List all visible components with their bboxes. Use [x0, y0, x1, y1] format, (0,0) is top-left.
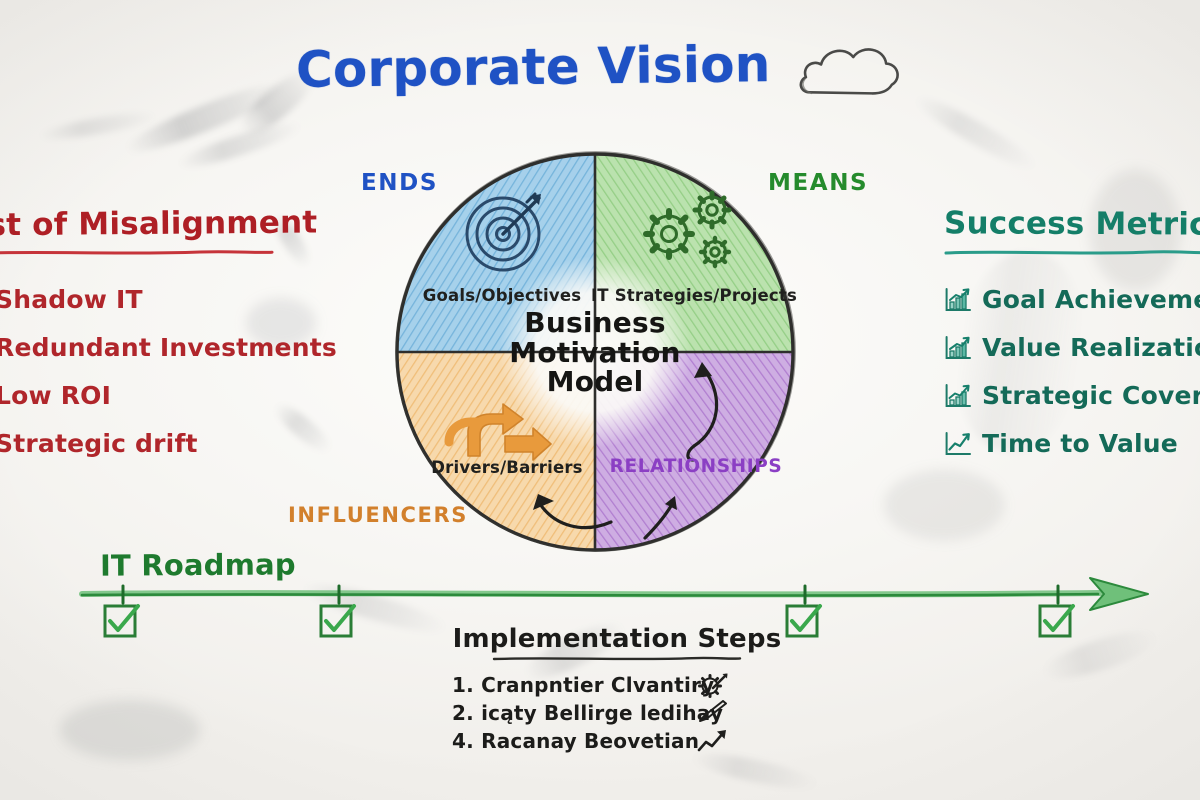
quadrant-label-goals: Goals/Objectives	[423, 286, 582, 305]
checkbox-checked-icon	[105, 606, 138, 636]
list-item-label: Time to Value	[982, 429, 1178, 458]
list-item: Strategic Coverage	[944, 371, 1200, 419]
list-item-label: Goal Achievement	[982, 285, 1200, 314]
center-line-2: Motivation	[509, 338, 680, 368]
cloud-icon	[796, 37, 905, 105]
step-label-1: 1. Cranpntier Clvantiry	[452, 673, 697, 697]
list-item: Goal Achievement	[944, 275, 1200, 323]
cost-list: Shadow IT Redundant Investments Low ROI	[0, 275, 316, 467]
list-item: 1. Cranpntier Clvantiry	[452, 671, 782, 699]
list-item: Value Realization	[944, 323, 1200, 371]
cost-of-misalignment-panel: ost of Misalignment Shadow IT Redundant …	[0, 206, 316, 467]
eraser-smudge	[910, 88, 1042, 177]
diagram-center-title: Business Motivation Model	[509, 308, 680, 397]
pencil-icon	[697, 700, 729, 726]
list-item: Low ROI	[0, 371, 316, 419]
eraser-smudge	[175, 115, 305, 174]
steps-underline	[492, 655, 742, 662]
outer-label-means: MEANS	[768, 170, 868, 196]
title-row: Corporate Vision	[0, 34, 1200, 100]
step-label-2: 2. icąty Bellirge ledihay	[452, 701, 697, 725]
quadrant-label-it-strategies: IT Strategies/Projects	[591, 286, 797, 305]
list-item-label: Low ROI	[0, 381, 111, 410]
list-item: Strategic drift	[0, 419, 316, 467]
list-item: 4. Racanay Beovetian	[452, 727, 782, 755]
outer-label-influencers: INFLUENCERS	[288, 503, 468, 527]
bar-chart-growth-icon	[944, 287, 972, 313]
eraser-smudge	[38, 108, 159, 145]
quadrant-label-relationships: RELATIONSHIPS	[610, 456, 783, 477]
center-line-1: Business	[509, 308, 680, 338]
list-item: Shadow IT	[0, 275, 316, 323]
list-item-label: Strategic Coverage	[982, 381, 1200, 410]
list-item-label: Redundant Investments	[0, 333, 337, 362]
whiteboard-canvas: Corporate Vision ost of Misalignment Sha…	[0, 0, 1200, 800]
metrics-list: Goal Achievement Value Realization	[944, 275, 1200, 467]
checkbox-checked-icon	[1040, 606, 1073, 636]
gear-wrench-icon	[697, 672, 729, 698]
eraser-smudge	[60, 700, 200, 760]
list-item-label: Value Realization	[982, 333, 1200, 362]
growth-arrow-icon	[697, 728, 729, 754]
outer-label-ends: ENDS	[361, 170, 438, 196]
right-panel-underline	[944, 248, 1200, 257]
business-motivation-model-diagram: Goals/Objectives IT Strategies/Projects …	[383, 140, 807, 564]
checkbox-checked-icon	[321, 606, 354, 636]
list-item: Redundant Investments	[0, 323, 316, 371]
center-line-3: Model	[509, 367, 680, 397]
eraser-smudge	[884, 470, 1004, 540]
page-title: Corporate Vision	[295, 35, 770, 99]
list-item: Time to Value	[944, 419, 1200, 467]
step-label-3: 4. Racanay Beovetian	[452, 729, 697, 753]
roadmap-label: IT Roadmap	[100, 547, 296, 582]
right-panel-title: Success Metrics	[944, 205, 1200, 243]
timeline-line	[82, 594, 1098, 596]
steps-title: Implementation Steps	[452, 624, 782, 654]
left-panel-underline	[0, 248, 274, 257]
checkbox-checked-icon	[787, 606, 820, 636]
list-item: 2. icąty Bellirge ledihay	[452, 699, 782, 727]
line-chart-arrow-icon	[944, 431, 972, 457]
left-panel-title: ost of Misalignment	[0, 204, 316, 243]
steps-list: 1. Cranpntier Clvantiry 2. icąty Bellirg…	[452, 671, 782, 755]
implementation-steps-panel: Implementation Steps 1. Cranpntier Clvan…	[452, 624, 782, 755]
bar-chart-growth-icon	[944, 335, 972, 361]
success-metrics-panel: Success Metrics Goal Achievement	[944, 206, 1200, 467]
bar-chart-growth-icon	[944, 383, 972, 409]
list-item-label: Strategic drift	[0, 429, 198, 458]
list-item-label: Shadow IT	[0, 285, 143, 314]
quadrant-label-drivers: Drivers/Barriers	[431, 458, 582, 477]
